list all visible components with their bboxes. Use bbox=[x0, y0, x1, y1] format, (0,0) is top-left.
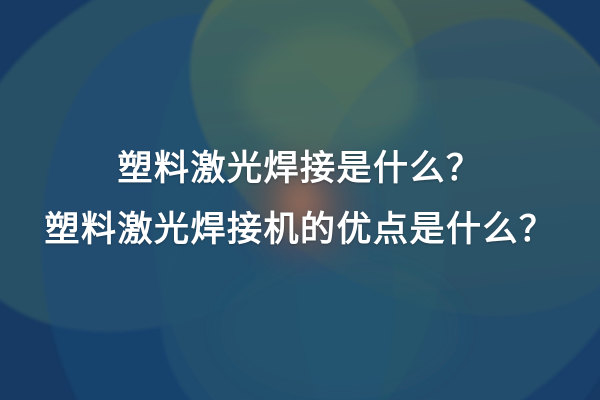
background-graphic bbox=[0, 0, 600, 400]
upper-green-highlight bbox=[240, 30, 420, 154]
lower-teal-highlight bbox=[220, 260, 460, 400]
banner-canvas: 塑料激光焊接是什么？ 塑料激光焊接机的优点是什么？ bbox=[0, 0, 600, 400]
center-warm-glow-core bbox=[266, 160, 334, 236]
